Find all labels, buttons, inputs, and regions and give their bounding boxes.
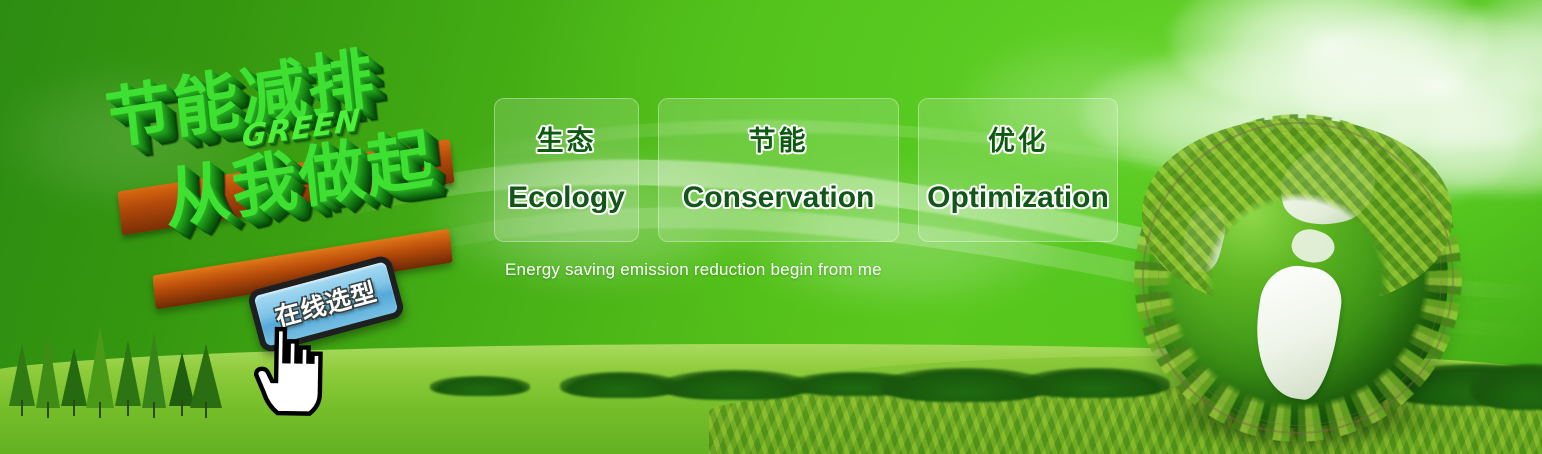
- feature-card-cn-label: 生态: [537, 128, 597, 155]
- bush-icon: [430, 376, 530, 396]
- feature-card-en-label: Optimization: [927, 183, 1109, 213]
- green-hero-banner: 节能减排 GREEN 从我做起 生态 Ecology 节能 Conservati…: [0, 0, 1542, 454]
- globe-vine: [1158, 130, 1442, 426]
- online-selection-button-label: 在线选型: [273, 278, 380, 329]
- feature-card-conservation[interactable]: 节能 Conservation: [658, 98, 899, 242]
- feature-card-optimization[interactable]: 优化 Optimization: [918, 98, 1118, 242]
- cloud-icon: [1460, 0, 1542, 100]
- feature-card-en-label: Ecology: [508, 183, 625, 213]
- feature-card-en-label: Conservation: [683, 183, 875, 213]
- cloud-icon: [1170, 0, 1490, 114]
- feature-card-cn-label: 优化: [988, 128, 1048, 155]
- feature-card-group: 生态 Ecology 节能 Conservation 优化 Optimizati…: [494, 98, 1118, 242]
- tagline: Energy saving emission reduction begin f…: [505, 260, 882, 280]
- leafy-earth-globe-icon: [1148, 128, 1448, 428]
- feature-card-ecology[interactable]: 生态 Ecology: [494, 98, 639, 242]
- bush-icon: [660, 370, 810, 400]
- headline-3d: 节能减排 GREEN 从我做起: [85, 14, 507, 285]
- feature-card-cn-label: 节能: [749, 128, 809, 155]
- hand-pointer-icon: [251, 325, 331, 418]
